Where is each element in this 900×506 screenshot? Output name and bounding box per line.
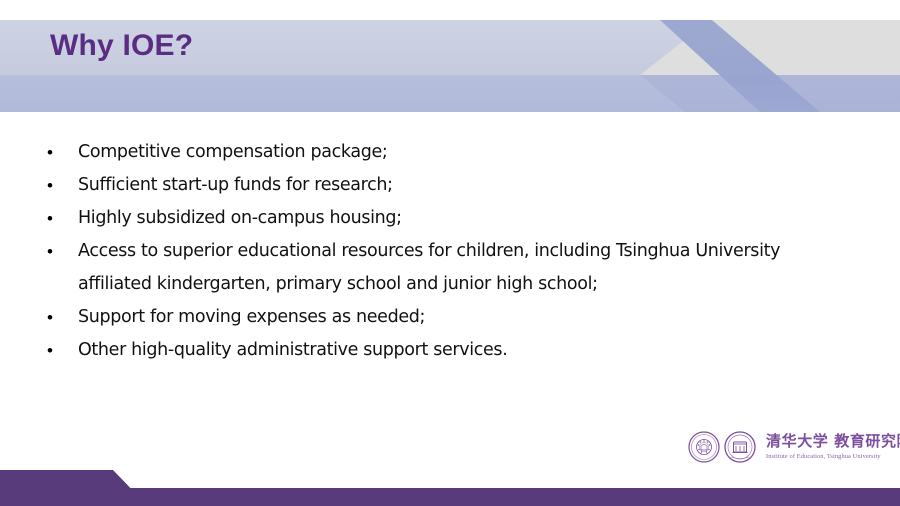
list-item: • Sufficient start-up funds for research… bbox=[44, 169, 834, 202]
ioe-seal-icon bbox=[724, 431, 756, 463]
page-title: Why IOE? bbox=[50, 29, 193, 63]
list-item: • Access to superior educational resourc… bbox=[44, 235, 834, 301]
presentation-slide: Why IOE? • Competitive compensation pack… bbox=[0, 0, 900, 506]
institution-logo: 清华大学 教育研究院 Institute of Education, Tsing… bbox=[688, 424, 888, 470]
list-item: • Highly subsidized on-campus housing; bbox=[44, 202, 834, 235]
list-item-text: Other high-quality administrative suppor… bbox=[78, 334, 834, 367]
bullet-icon: • bbox=[44, 169, 78, 202]
list-item: • Other high-quality administrative supp… bbox=[44, 334, 834, 367]
tsinghua-seal-icon bbox=[688, 431, 720, 463]
bullet-icon: • bbox=[44, 202, 78, 235]
list-item: • Competitive compensation package; bbox=[44, 136, 834, 169]
bullet-list: • Competitive compensation package; • Su… bbox=[44, 136, 834, 367]
logo-english-name: Institute of Education, Tsinghua Univers… bbox=[766, 452, 900, 461]
footer-accent-block bbox=[0, 470, 140, 506]
logo-chinese-name: 清华大学 教育研究院 bbox=[766, 433, 900, 450]
list-item-text: Highly subsidized on-campus housing; bbox=[78, 202, 834, 235]
bullet-icon: • bbox=[44, 235, 78, 268]
bullet-icon: • bbox=[44, 334, 78, 367]
list-item-text: Sufficient start-up funds for research; bbox=[78, 169, 834, 202]
list-item-text: Support for moving expenses as needed; bbox=[78, 301, 834, 334]
list-item-text: Access to superior educational resources… bbox=[78, 235, 834, 301]
bullet-icon: • bbox=[44, 301, 78, 334]
bullet-icon: • bbox=[44, 136, 78, 169]
list-item: • Support for moving expenses as needed; bbox=[44, 301, 834, 334]
logo-text-group: 清华大学 教育研究院 Institute of Education, Tsing… bbox=[766, 433, 900, 461]
list-item-text: Competitive compensation package; bbox=[78, 136, 834, 169]
